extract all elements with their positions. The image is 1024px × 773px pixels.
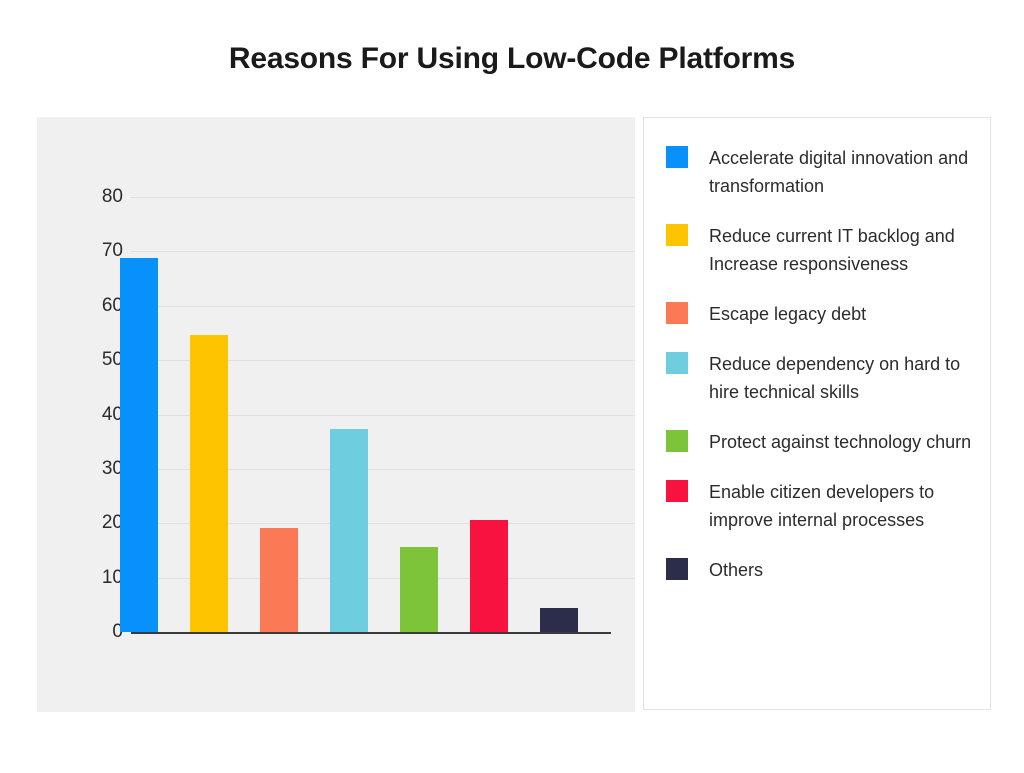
bar <box>400 547 438 632</box>
legend-item-label: Reduce dependency on hard to hire techni… <box>709 350 976 406</box>
legend-swatch-icon <box>666 558 688 580</box>
bar <box>120 258 158 632</box>
legend-item[interactable]: Enable citizen developers to improve int… <box>666 478 976 534</box>
legend-swatch-icon <box>666 480 688 502</box>
legend-item-label: Enable citizen developers to improve int… <box>709 478 976 534</box>
legend-item-label: Accelerate digital innovation and transf… <box>709 144 976 200</box>
legend-swatch-icon <box>666 430 688 452</box>
plot-area: 80706050403020100 <box>37 117 635 712</box>
bar <box>260 528 298 632</box>
legend-item[interactable]: Protect against technology churn <box>666 428 976 456</box>
legend-swatch-icon <box>666 224 688 246</box>
legend: Accelerate digital innovation and transf… <box>643 117 991 710</box>
legend-item[interactable]: Reduce current IT backlog and Increase r… <box>666 222 976 278</box>
legend-swatch-icon <box>666 302 688 324</box>
legend-swatch-icon <box>666 146 688 168</box>
legend-item-label: Escape legacy debt <box>709 300 866 328</box>
chart-title: Reasons For Using Low-Code Platforms <box>0 42 1024 76</box>
legend-item-label: Protect against technology churn <box>709 428 971 456</box>
legend-item[interactable]: Reduce dependency on hard to hire techni… <box>666 350 976 406</box>
legend-item[interactable]: Others <box>666 556 976 584</box>
bar <box>470 520 508 632</box>
legend-item[interactable]: Accelerate digital innovation and transf… <box>666 144 976 200</box>
bar <box>540 608 578 632</box>
legend-item[interactable]: Escape legacy debt <box>666 300 976 328</box>
legend-swatch-icon <box>666 352 688 374</box>
legend-item-label: Reduce current IT backlog and Increase r… <box>709 222 976 278</box>
legend-item-label: Others <box>709 556 763 584</box>
bars-layer <box>37 117 635 712</box>
bar <box>330 429 368 632</box>
chart-container: Reasons For Using Low-Code Platforms 807… <box>0 0 1024 773</box>
bar <box>190 335 228 632</box>
